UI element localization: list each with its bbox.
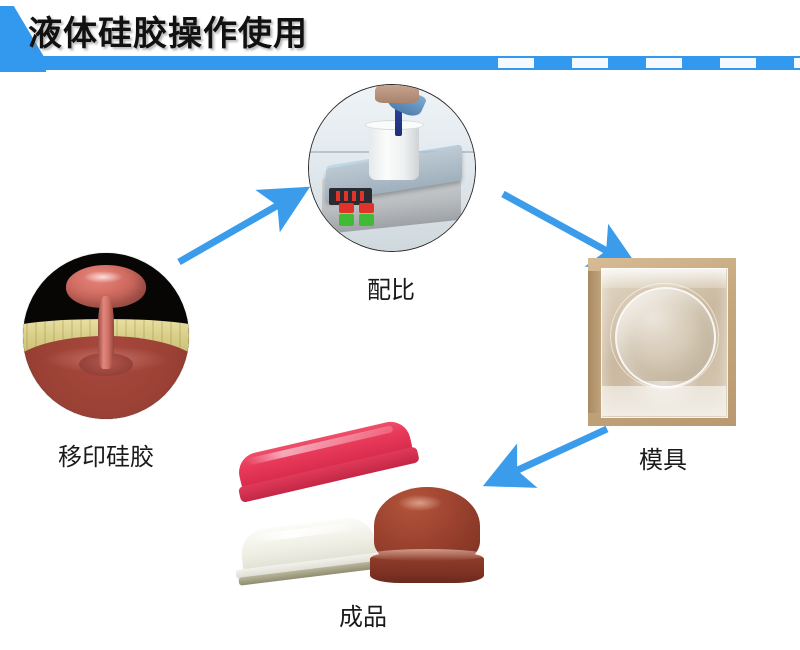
white-pad-product [231, 514, 387, 594]
page-header: 液体硅胶操作使用 [0, 0, 800, 76]
flow-node-mold: 模具 [588, 258, 738, 426]
arrow-silicone-to-ratio [175, 188, 300, 268]
flow-node-silicone: 移印硅胶 [23, 253, 189, 419]
scale-button-green-2 [359, 214, 374, 226]
cardboard-edge [588, 271, 601, 412]
flow-node-silicone-label: 移印硅胶 [23, 437, 189, 472]
flow-node-products: 成品 [228, 425, 498, 595]
operator-hand [375, 84, 418, 103]
flow-node-ratio-label: 配比 [308, 270, 474, 305]
scale-button-red-2 [359, 203, 374, 213]
hemispherical-cavity [615, 287, 717, 388]
header-bar-dashes [460, 58, 800, 68]
mixing-ratio-photo [308, 84, 476, 252]
scale-button-green-1 [339, 214, 354, 226]
flow-node-mold-label: 模具 [588, 440, 738, 475]
scale-button-red-1 [339, 203, 354, 213]
brown-dome-band [368, 549, 486, 561]
slide-root: 液体硅胶操作使用 [0, 0, 800, 650]
page-title: 液体硅胶操作使用 [28, 6, 308, 55]
finished-products-photo [228, 425, 498, 595]
scale-digits [336, 191, 366, 201]
drip-highlight [83, 271, 123, 283]
flow-node-products-label: 成品 [228, 597, 498, 632]
pad-printing-silicone-photo [23, 253, 189, 419]
brown-dome-product [368, 487, 486, 587]
white-bucket [369, 122, 419, 180]
mold-photo [588, 258, 736, 426]
silicone-stream [98, 296, 115, 369]
brown-dome-highlight [398, 495, 442, 511]
cavity-reflection [629, 381, 697, 410]
flow-node-ratio: 配比 [308, 84, 474, 252]
